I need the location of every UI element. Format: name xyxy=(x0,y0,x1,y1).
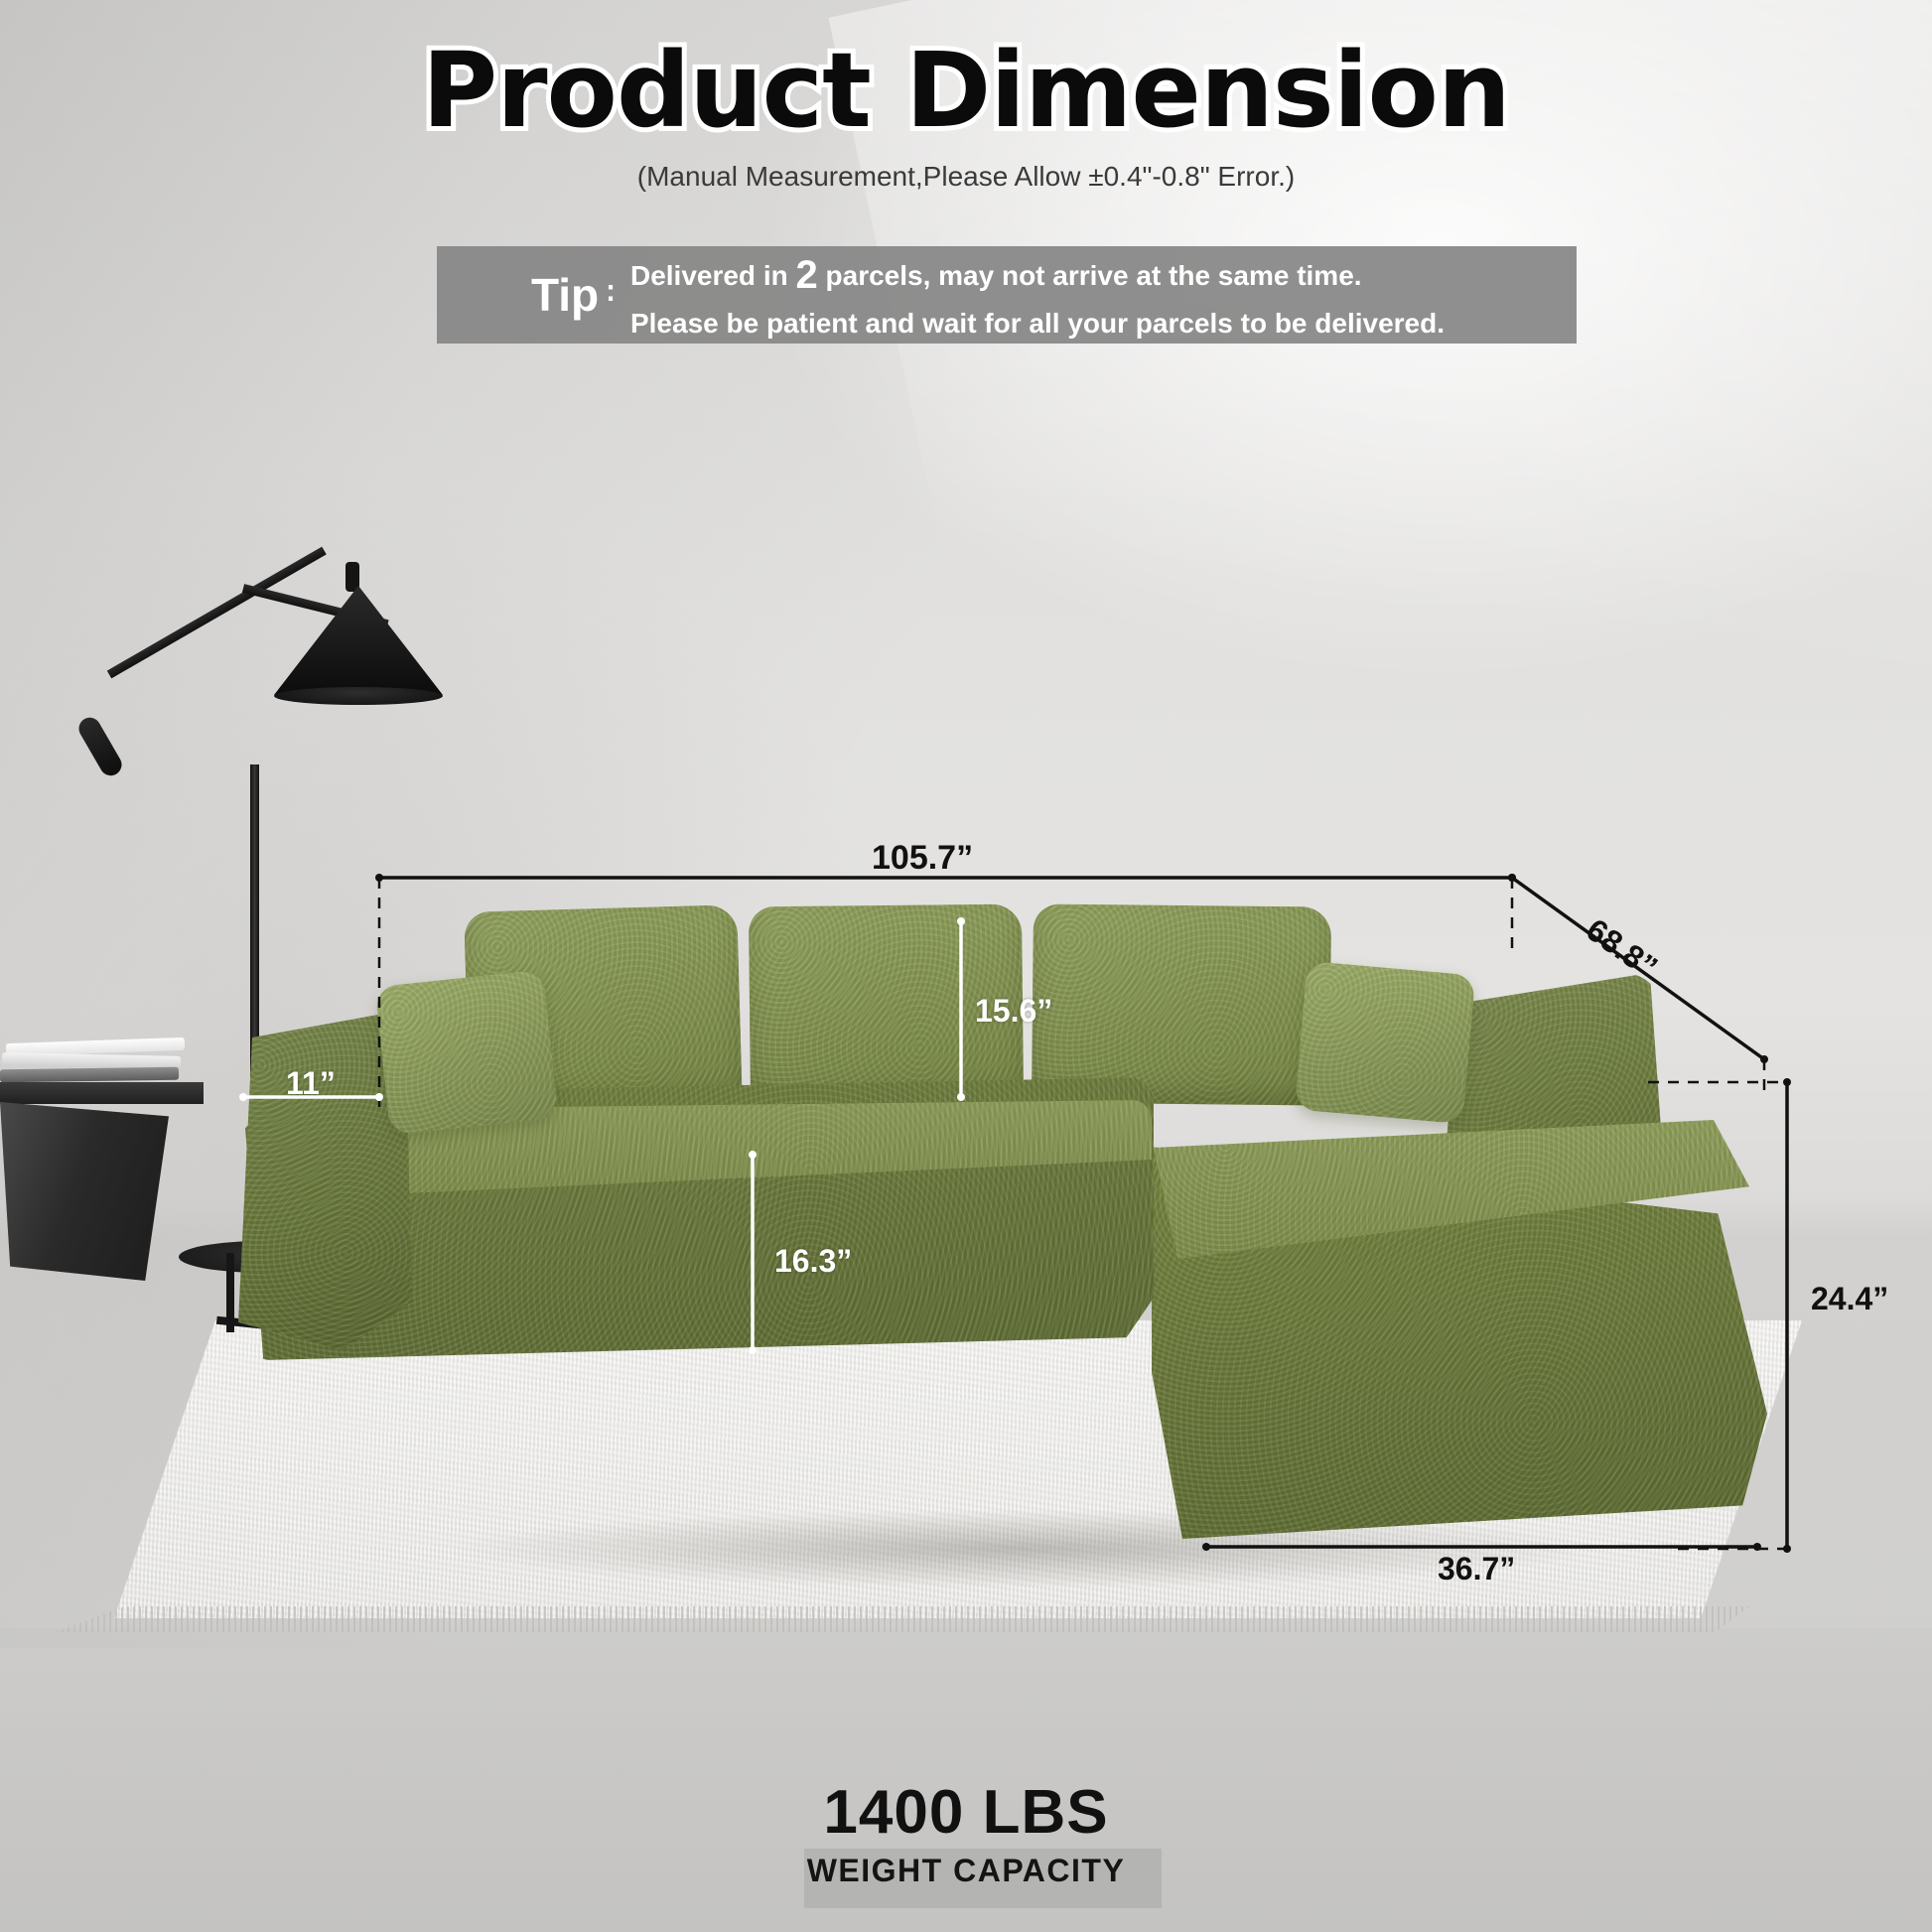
tip-message-line1: Delivered in 2 parcels, may not arrive a… xyxy=(630,247,1445,304)
tip-line1-pre: Delivered in xyxy=(630,260,796,291)
weight-capacity-label: WEIGHT CAPACITY xyxy=(0,1853,1932,1889)
header: Product Dimension (Manual Measurement,Pl… xyxy=(0,0,1932,193)
weight-capacity-value: 1400 LBS xyxy=(0,1777,1932,1848)
dim-label-chaise-depth: 36.7” xyxy=(1438,1551,1515,1587)
page-subtitle: (Manual Measurement,Please Allow ±0.4"-0… xyxy=(0,161,1932,193)
page-title: Product Dimension xyxy=(0,0,1932,151)
tip-message-line2: Please be patient and wait for all your … xyxy=(630,304,1445,344)
tip-label: Tip xyxy=(531,268,599,322)
tip-banner: Tip ∶ Delivered in 2 parcels, may not ar… xyxy=(437,246,1577,344)
tip-message: Delivered in 2 parcels, may not arrive a… xyxy=(630,247,1445,344)
tip-parcel-count: 2 xyxy=(795,253,817,297)
tip-colon: ∶ xyxy=(607,280,615,310)
dim-label-arm-width: 11” xyxy=(286,1065,336,1102)
dim-label-seat-height: 16.3” xyxy=(774,1243,852,1280)
tip-line1-post: parcels, may not arrive at the same time… xyxy=(818,260,1362,291)
dim-label-chaise-height: 24.4” xyxy=(1811,1281,1888,1317)
dim-label-backrest-height: 15.6” xyxy=(975,993,1052,1030)
dim-label-overall-width: 105.7” xyxy=(872,839,973,878)
